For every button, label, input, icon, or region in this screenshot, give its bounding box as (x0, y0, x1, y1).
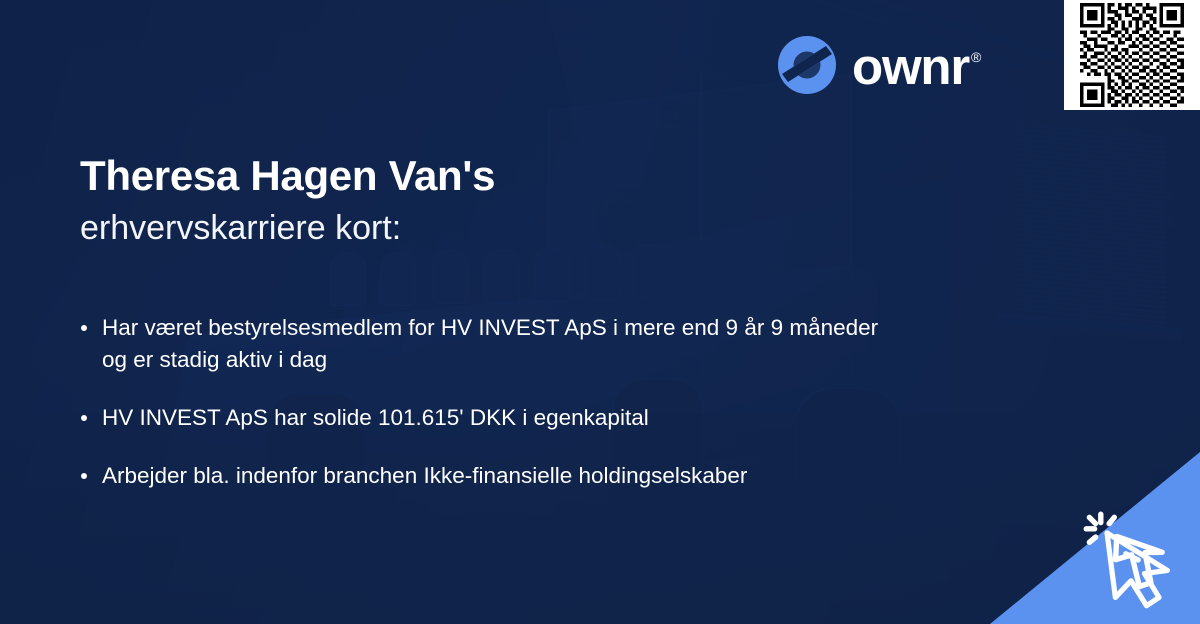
bullet-dot-icon (81, 415, 87, 421)
career-facts-list: Har været bestyrelsesmedlem for HV INVES… (80, 312, 980, 492)
career-fact-item: Har været bestyrelsesmedlem for HV INVES… (80, 312, 902, 376)
promo-card: ownr® Theresa Hagen Van's erhvervskarrie… (0, 0, 1200, 624)
bullet-dot-icon (81, 473, 87, 479)
brand-name: ownr (852, 38, 969, 95)
ownr-wordmark: ownr® (852, 41, 978, 92)
career-fact-text: Arbejder bla. indenfor branchen Ikke-fin… (102, 463, 747, 488)
career-fact-text: HV INVEST ApS har solide 101.615' DKK i … (102, 405, 649, 430)
headline-block: Theresa Hagen Van's erhvervskarriere kor… (80, 152, 720, 248)
click-cursor-icon (1080, 508, 1184, 612)
registered-trademark-symbol: ® (971, 49, 980, 65)
career-fact-item: Arbejder bla. indenfor branchen Ikke-fin… (80, 460, 902, 492)
career-fact-item: HV INVEST ApS har solide 101.615' DKK i … (80, 402, 902, 434)
ownr-circular-swirl-mark (776, 34, 838, 96)
headline-subtitle: erhvervskarriere kort: (80, 209, 720, 248)
career-fact-text: Har været bestyrelsesmedlem for HV INVES… (102, 315, 878, 372)
qr-code[interactable] (1080, 3, 1184, 107)
qr-code-panel[interactable] (1064, 0, 1200, 110)
ownr-logo[interactable]: ownr® (776, 34, 978, 96)
bullet-dot-icon (81, 325, 87, 331)
headline-person-name: Theresa Hagen Van's (80, 152, 720, 199)
